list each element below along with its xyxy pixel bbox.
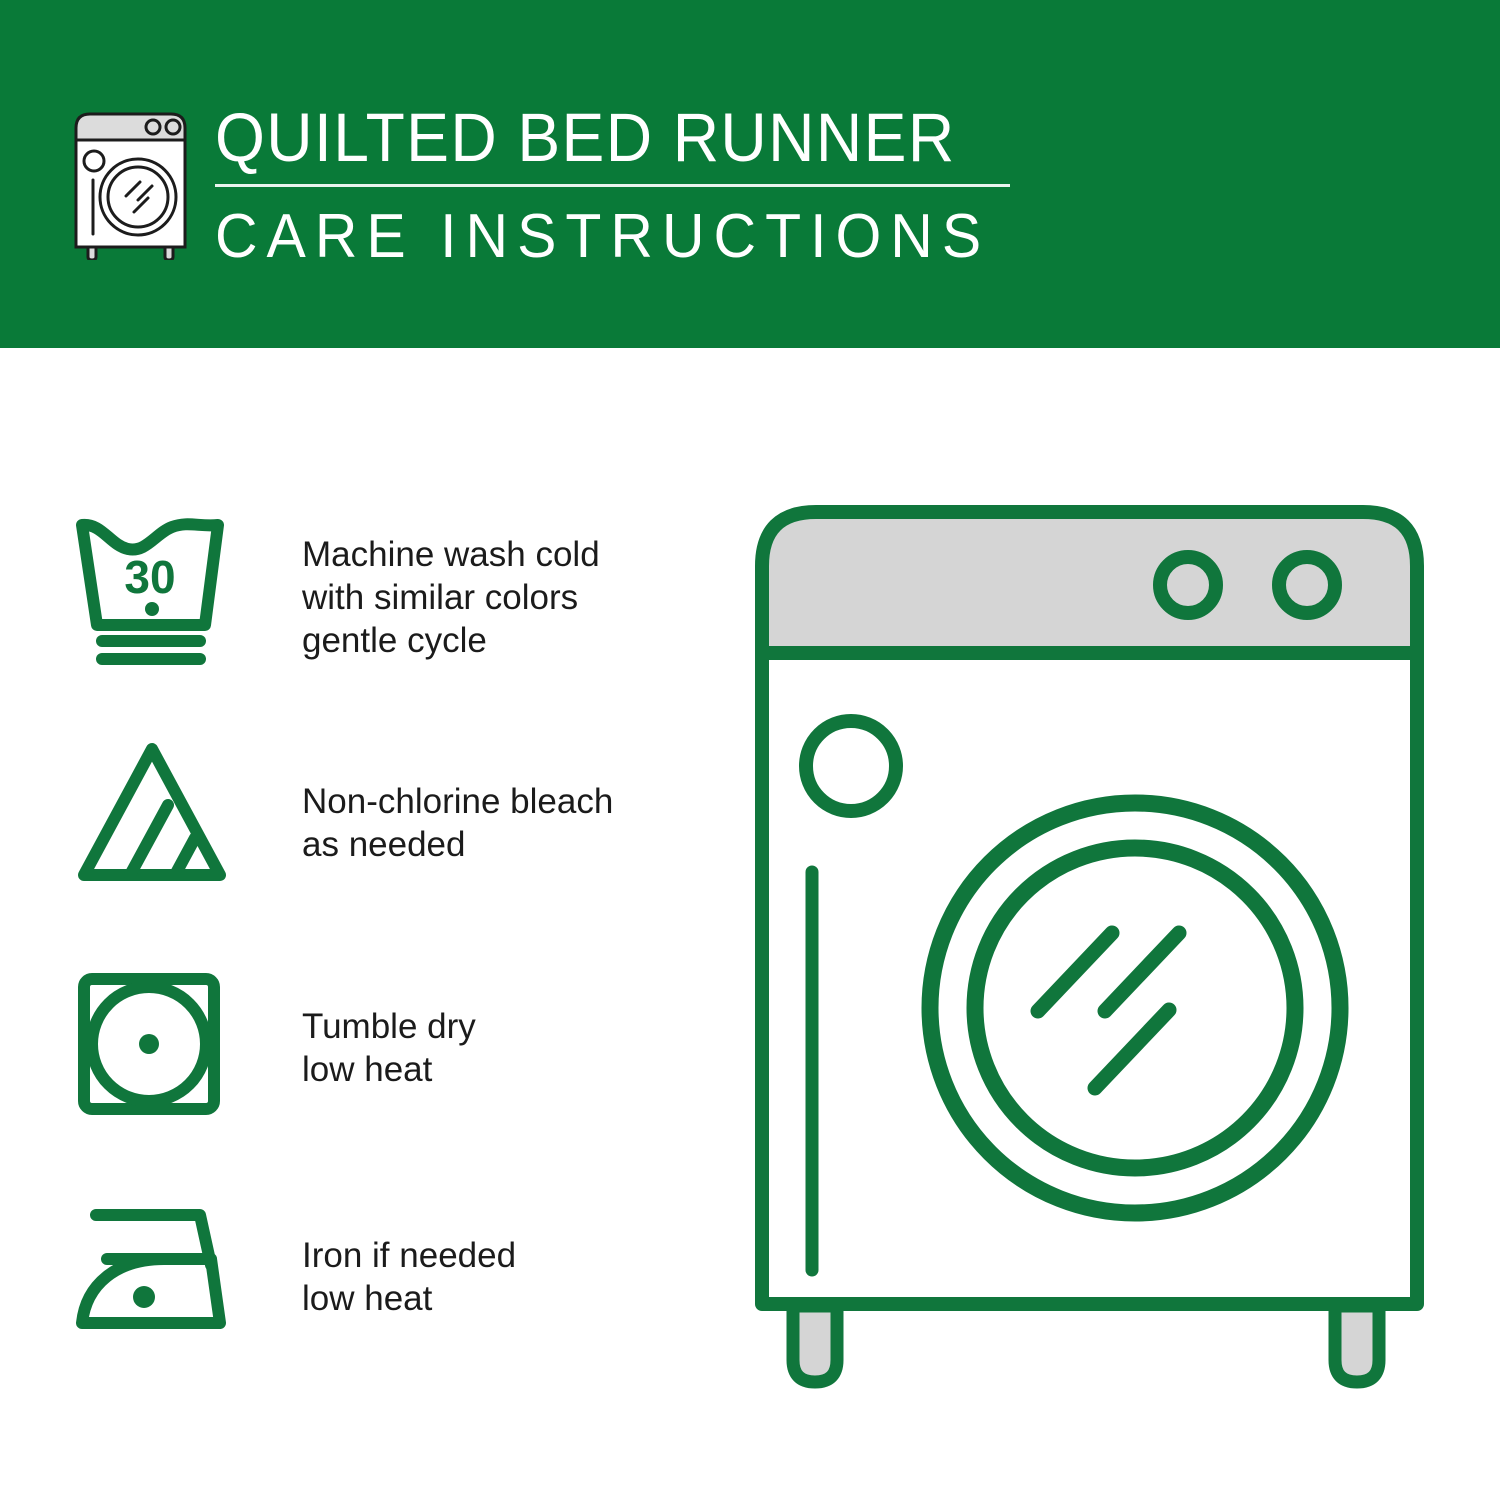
washer-knob-right xyxy=(1279,557,1335,613)
wash-temperature-label: 30 xyxy=(124,551,175,603)
page-subtitle: CARE INSTRUCTIONS xyxy=(215,204,975,270)
washing-machine-icon xyxy=(68,108,193,260)
page-title: QUILTED BED RUNNER xyxy=(215,100,959,176)
washer-leg-left xyxy=(793,1306,837,1382)
header-banner: QUILTED BED RUNNER CARE INSTRUCTIONS xyxy=(0,0,1500,348)
washer-dial xyxy=(806,721,896,811)
iron-low-heat-symbol xyxy=(72,1201,242,1371)
care-instructions-page: QUILTED BED RUNNER CARE INSTRUCTIONS xyxy=(0,0,1500,1500)
instruction-text-iron: Iron if needed low heat xyxy=(242,1201,672,1320)
non-chlorine-bleach-symbol xyxy=(72,737,242,907)
washer-knob-left xyxy=(1160,557,1216,613)
washing-machine-illustration xyxy=(745,498,1445,1408)
instruction-text-machine-wash: Machine wash cold with similar colors ge… xyxy=(242,505,672,662)
washer-leg-right xyxy=(1335,1306,1379,1382)
instruction-text-bleach: Non-chlorine bleach as needed xyxy=(242,737,672,866)
header-divider xyxy=(215,184,1010,187)
instruction-text-tumble-dry: Tumble dry low heat xyxy=(242,969,672,1091)
header-text-block: QUILTED BED RUNNER CARE INSTRUCTIONS xyxy=(215,100,1015,270)
instruction-row-tumble-dry: Tumble dry low heat xyxy=(72,969,672,1201)
instruction-row-bleach: Non-chlorine bleach as needed xyxy=(72,737,672,969)
instruction-row-machine-wash: 30 Machine wash cold with similar colors… xyxy=(72,505,672,737)
instructions-list: 30 Machine wash cold with similar colors… xyxy=(72,505,672,1433)
instruction-row-iron: Iron if needed low heat xyxy=(72,1201,672,1433)
tumble-dry-low-symbol xyxy=(72,969,242,1139)
machine-wash-30-gentle-symbol: 30 xyxy=(72,505,242,675)
